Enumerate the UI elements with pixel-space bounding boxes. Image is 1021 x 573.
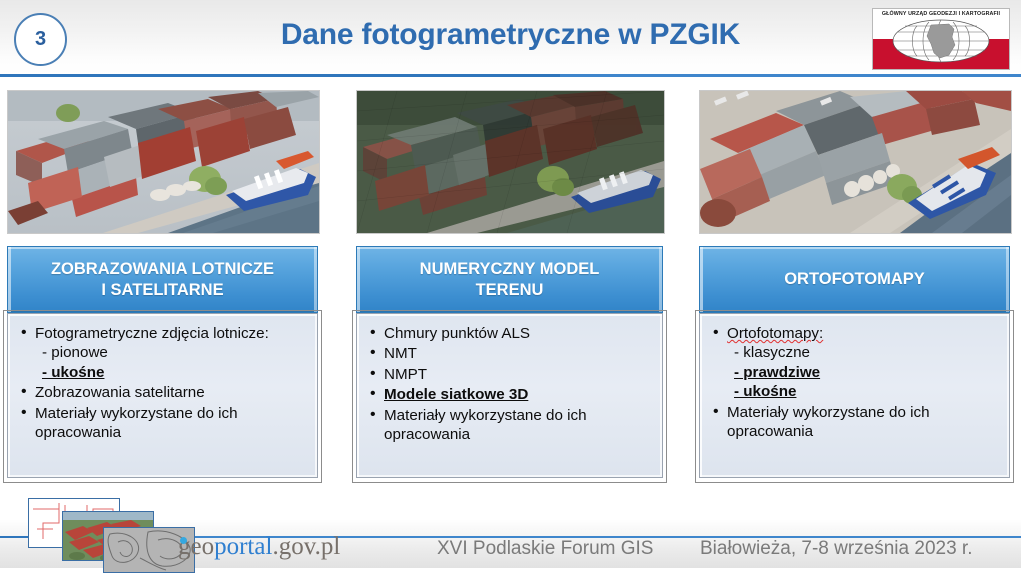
list-item-label: Chmury punktów ALS: [384, 325, 530, 342]
presentation-slide: 3 Dane fotogrametryczne w PZGIK GŁÓWNY U…: [0, 0, 1021, 568]
card-nmt: NUMERYCZNY MODEL TERENU Chmury punktów A…: [356, 246, 663, 478]
page-title: Dane fotogrametryczne w PZGIK: [0, 18, 1021, 52]
list-item: Ortofotomapy: - klasyczne - prawdziwe - …: [712, 324, 999, 402]
card-ortofotomapy-title: ORTOFOTOMAPY: [772, 269, 937, 289]
list-item: Chmury punktów ALS: [369, 324, 652, 343]
card-ortofotomapy-header: ORTOFOTOMAPY: [699, 246, 1010, 313]
card-zobrazowania-header: ZOBRAZOWANIA LOTNICZE I SATELITARNE: [7, 246, 318, 313]
geoportal-logo-tld: .gov.pl: [272, 533, 340, 560]
footer-event-date: Białowieża, 7-8 września 2023 r.: [700, 538, 972, 560]
card-zobrazowania-body: Fotogrametryczne zdjęcia lotnicze: - pio…: [7, 313, 318, 478]
list-item-label: Zobrazowania satelitarne: [35, 384, 205, 401]
list-item: Materiały wykorzystane do ich opracowani…: [20, 404, 307, 443]
card-zobrazowania: ZOBRAZOWANIA LOTNICZE I SATELITARNE Foto…: [7, 246, 318, 478]
card-title-line1: NUMERYCZNY MODEL: [420, 260, 600, 278]
bullet-list: Ortofotomapy: - klasyczne - prawdziwe - …: [712, 324, 999, 442]
sub-item-label: - klasyczne: [727, 343, 999, 362]
list-item-label-emphasis: Modele siatkowe 3D: [384, 386, 528, 403]
card-ortofotomapy-body: Ortofotomapy: - klasyczne - prawdziwe - …: [699, 313, 1010, 478]
card-ortofotomapy: ORTOFOTOMAPY Ortofotomapy: - klasyczne -…: [699, 246, 1010, 478]
list-item: Modele siatkowe 3D: [369, 385, 652, 404]
sub-item-label-emphasis: - ukośne: [35, 363, 307, 382]
geoportal-logo[interactable]: geoportal.gov.pl: [178, 533, 340, 561]
card-title-line1: ZOBRAZOWANIA LOTNICZE: [51, 260, 274, 278]
card-nmt-header: NUMERYCZNY MODEL TERENU: [356, 246, 663, 313]
card-nmt-title: NUMERYCZNY MODEL TERENU: [408, 259, 612, 299]
gugik-logo: GŁÓWNY URZĄD GEODEZJI I KARTOGRAFII: [872, 8, 1010, 70]
geoportal-logo-g: g: [178, 533, 191, 561]
footer-event-name: XVI Podlaskie Forum GIS: [437, 538, 653, 560]
globe-icon: [891, 18, 991, 64]
bullet-list: Fotogrametryczne zdjęcia lotnicze: - pio…: [20, 324, 307, 443]
card-title-line2: I SATELITARNE: [101, 281, 223, 299]
mesh-3d-model: [356, 90, 665, 234]
list-item-label: Materiały wykorzystane do ich opracowani…: [35, 405, 238, 441]
list-item: NMPT: [369, 365, 652, 384]
list-item: Zobrazowania satelitarne: [20, 383, 307, 402]
card-title-line2: TERENU: [476, 281, 544, 299]
list-item: NMT: [369, 344, 652, 363]
geoportal-logo-portal: portal: [214, 533, 272, 560]
list-item-label: Materiały wykorzystane do ich opracowani…: [727, 404, 930, 440]
list-item: Materiały wykorzystane do ich opracowani…: [369, 406, 652, 445]
geoportal-logo-eo: eo: [191, 533, 215, 560]
gugik-logo-caption: GŁÓWNY URZĄD GEODEZJI I KARTOGRAFII: [873, 11, 1009, 17]
header-divider-segment: [560, 74, 1021, 77]
list-item-label: NMPT: [384, 366, 427, 383]
list-item-label: Materiały wykorzystane do ich opracowani…: [384, 407, 587, 443]
sub-item-label: - pionowe: [35, 343, 307, 362]
bullet-list: Chmury punktów ALS NMT NMPT Modele siatk…: [369, 324, 652, 445]
list-item-label: NMT: [384, 345, 417, 362]
sub-item-label-emphasis: - prawdziwe: [727, 363, 999, 382]
sub-item-label-emphasis: - ukośne: [727, 382, 999, 401]
oblique-aerial-photo: [7, 90, 320, 234]
list-item-label-spellchecked: Ortofotomapy:: [727, 325, 823, 342]
card-nmt-body: Chmury punktów ALS NMT NMPT Modele siatk…: [356, 313, 663, 478]
list-item: Materiały wykorzystane do ich opracowani…: [712, 403, 999, 442]
card-zobrazowania-title: ZOBRAZOWANIA LOTNICZE I SATELITARNE: [39, 259, 286, 299]
footer-thumbnail-stack: [10, 497, 185, 568]
list-item-label: Fotogrametryczne zdjęcia lotnicze:: [35, 325, 269, 342]
list-item: Fotogrametryczne zdjęcia lotnicze: - pio…: [20, 324, 307, 382]
true-orthophoto: [699, 90, 1012, 234]
